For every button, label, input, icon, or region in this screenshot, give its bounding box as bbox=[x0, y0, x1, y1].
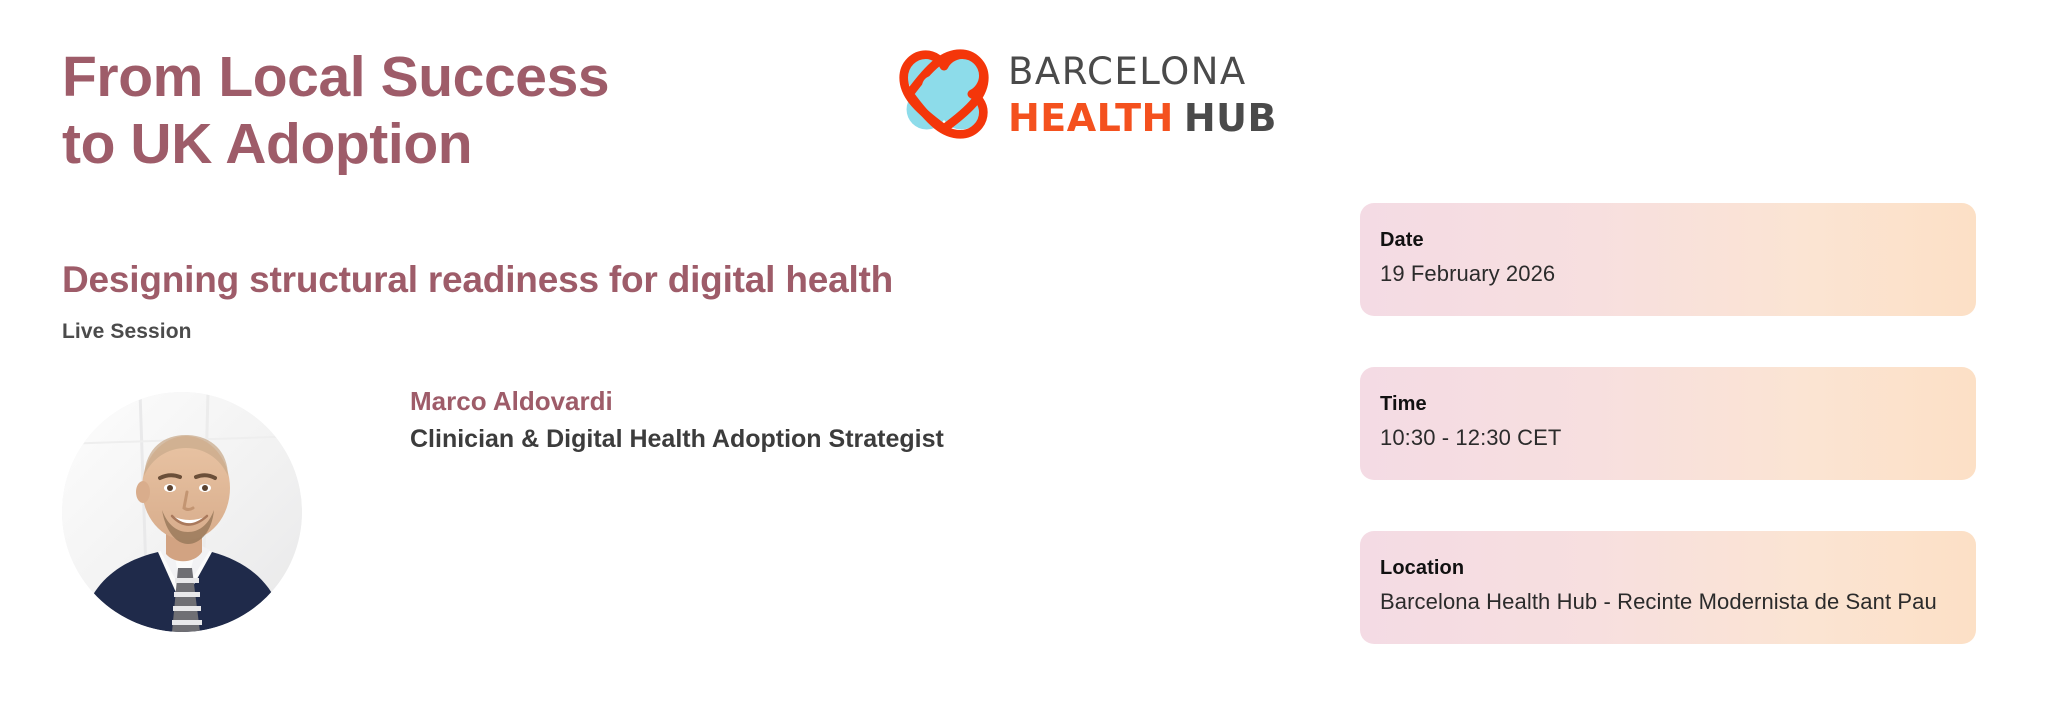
session-subtitle: Designing structural readiness for digit… bbox=[62, 258, 893, 302]
info-card-location: Location Barcelona Health Hub - Recinte … bbox=[1360, 531, 1976, 644]
card-label: Time bbox=[1380, 393, 1976, 416]
logo-health-hub-text: HEALTHHUB bbox=[1008, 99, 1277, 137]
speaker-avatar bbox=[62, 392, 302, 632]
speaker-name: Marco Aldovardi bbox=[410, 386, 613, 417]
hearts-logo-icon bbox=[896, 46, 992, 142]
speaker-photo bbox=[62, 392, 302, 632]
page-title: From Local Success to UK Adoption bbox=[62, 44, 609, 177]
speaker-role: Clinician & Digital Health Adoption Stra… bbox=[410, 425, 944, 454]
logo-hub-text: HUB bbox=[1184, 96, 1277, 140]
event-info-cards: Date 19 February 2026 Time 10:30 - 12:30… bbox=[1360, 203, 1976, 695]
logo-health-text: HEALTH bbox=[1008, 96, 1174, 140]
card-value: 10:30 - 12:30 CET bbox=[1380, 425, 1976, 451]
card-value: 19 February 2026 bbox=[1380, 261, 1976, 287]
card-label: Date bbox=[1380, 229, 1976, 252]
session-type-label: Live Session bbox=[62, 320, 192, 344]
info-card-date: Date 19 February 2026 bbox=[1360, 203, 1976, 316]
logo-barcelona-text: BARCELONA bbox=[1008, 53, 1277, 90]
card-value: Barcelona Health Hub - Recinte Modernist… bbox=[1380, 589, 1976, 615]
logo-wordmark: BARCELONA HEALTHHUB bbox=[1008, 51, 1277, 137]
brand-logo: BARCELONA HEALTHHUB bbox=[896, 46, 1277, 142]
event-banner: From Local Success to UK Adoption bbox=[0, 0, 2048, 715]
info-card-time: Time 10:30 - 12:30 CET bbox=[1360, 367, 1976, 480]
card-label: Location bbox=[1380, 557, 1976, 580]
